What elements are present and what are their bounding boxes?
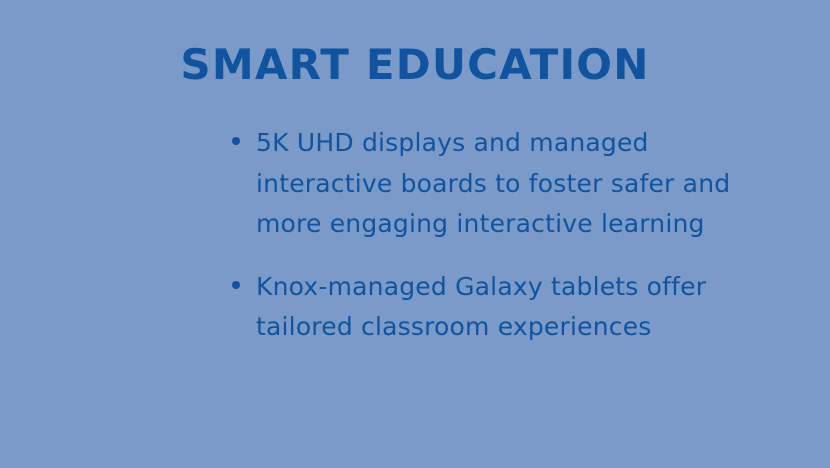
page-title: SMART EDUCATION [0,42,830,88]
bullet-text: 5K UHD displays and managed interactive … [256,123,756,245]
bullet-dot-icon [232,281,240,289]
bullet-text: Knox-managed Galaxy tablets offer tailor… [256,267,756,348]
bullet-list: 5K UHD displays and managed interactive … [232,123,772,370]
slide-canvas: SMART EDUCATION 5K UHD displays and mana… [0,0,830,468]
list-item: Knox-managed Galaxy tablets offer tailor… [232,267,772,348]
bullet-dot-icon [232,137,240,145]
list-item: 5K UHD displays and managed interactive … [232,123,772,245]
